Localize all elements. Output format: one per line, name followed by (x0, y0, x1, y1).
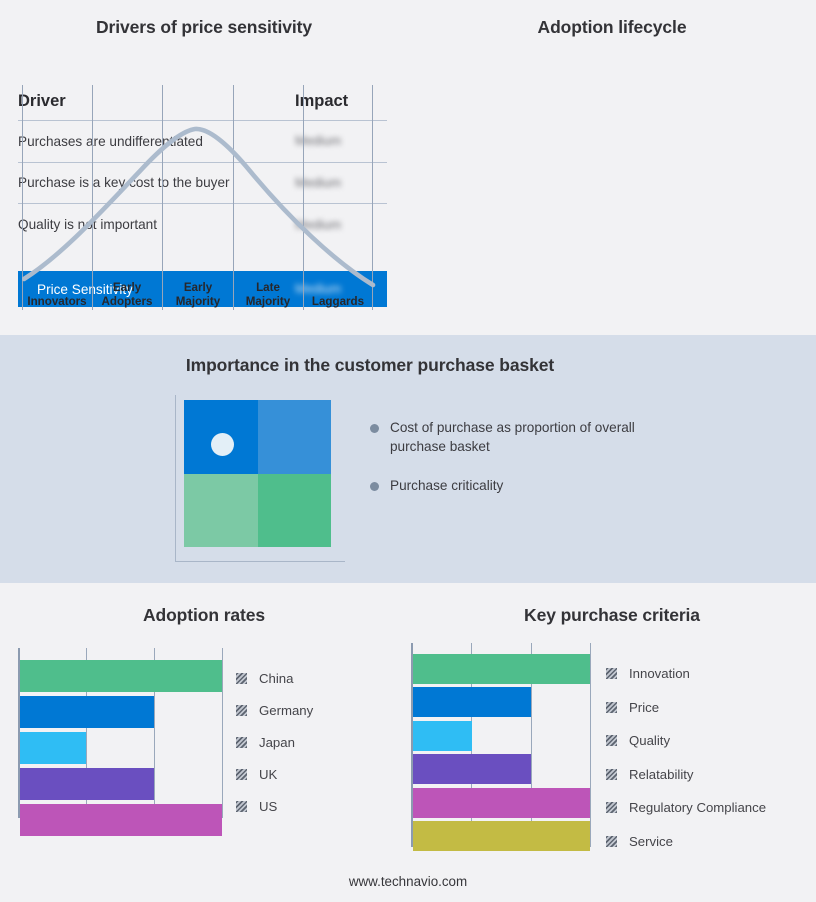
hatched-swatch-icon (606, 702, 617, 713)
bar-uk (20, 768, 154, 800)
hatched-swatch-icon (236, 801, 247, 812)
key-purchase-criteria-legend: Innovation Price Quality Relatability Re… (606, 657, 766, 858)
hatched-swatch-icon (236, 705, 247, 716)
segment-line-1: Early (163, 281, 233, 295)
legend-label: Germany (259, 703, 313, 718)
key-purchase-criteria-chart (411, 643, 596, 847)
segment-line-1: Late (233, 281, 303, 295)
bar-price (413, 687, 531, 717)
legend-label: Price (629, 700, 659, 715)
bar-innovation (413, 654, 590, 684)
legend-item: China (236, 662, 313, 694)
adoption-rates-title: Adoption rates (0, 605, 408, 626)
hatched-swatch-icon (606, 668, 617, 679)
lifecycle-segment-labels: Innovators Early Adopters Early Majority… (22, 268, 398, 310)
matrix-position-marker (211, 433, 234, 456)
gridline (590, 643, 591, 847)
matrix-quadrant-top-right (258, 400, 332, 474)
hatched-swatch-icon (606, 769, 617, 780)
lifecycle-segment-laggards: Laggards (303, 295, 373, 309)
legend-label: Relatability (629, 767, 694, 782)
hatched-swatch-icon (606, 735, 617, 746)
basket-legend: Cost of purchase as proportion of overal… (370, 418, 670, 515)
legend-item: Japan (236, 726, 313, 758)
legend-label: Japan (259, 735, 295, 750)
adoption-rates-legend: China Germany Japan UK US (236, 662, 313, 822)
bullet-icon (370, 424, 379, 433)
key-purchase-criteria-title: Key purchase criteria (408, 605, 816, 626)
bar-us (20, 804, 222, 836)
legend-label: Regulatory Compliance (629, 800, 766, 815)
lifecycle-segment-early-majority: Early Majority (163, 281, 233, 309)
legend-item: US (236, 790, 313, 822)
bar-quality (413, 721, 472, 751)
legend-item: Cost of purchase as proportion of overal… (370, 418, 670, 456)
legend-item: UK (236, 758, 313, 790)
hatched-swatch-icon (606, 802, 617, 813)
purchase-basket-matrix (184, 400, 331, 547)
lifecycle-segment-late-majority: Late Majority (233, 281, 303, 309)
legend-label: Quality (629, 733, 670, 748)
legend-label: Cost of purchase as proportion of overal… (390, 420, 635, 454)
lifecycle-section-title: Adoption lifecycle (408, 17, 816, 38)
bar-china (20, 660, 222, 692)
hatched-swatch-icon (236, 673, 247, 684)
legend-label: Service (629, 834, 673, 849)
hatched-swatch-icon (236, 737, 247, 748)
bar-germany (20, 696, 154, 728)
matrix-quadrant-bottom-right (258, 474, 332, 548)
segment-line-1: Early (92, 281, 162, 295)
lifecycle-segment-early-adopters: Early Adopters (92, 281, 162, 309)
matrix-quadrant-bottom-left (184, 474, 258, 548)
lifecycle-panel (408, 0, 816, 335)
lifecycle-segment-innovators: Innovators (22, 295, 92, 309)
lifecycle-bell-curve (24, 129, 373, 285)
legend-label: China (259, 671, 293, 686)
criteria-plot-area (411, 643, 592, 847)
legend-item: Purchase criticality (370, 476, 670, 495)
adoption-plot-area (18, 648, 224, 818)
footer-url: www.technavio.com (0, 874, 816, 889)
segment-line-2: Majority (163, 295, 233, 309)
segment-line-2: Majority (233, 295, 303, 309)
adoption-rates-chart (18, 648, 228, 818)
drivers-section-title: Drivers of price sensitivity (0, 17, 408, 38)
segment-line-2: Laggards (303, 295, 373, 309)
segment-line-2: Adopters (92, 295, 162, 309)
legend-label: UK (259, 767, 277, 782)
bar-relatability (413, 754, 531, 784)
legend-item: Innovation (606, 657, 766, 691)
bar-japan (20, 732, 86, 764)
bar-service (413, 821, 590, 851)
hatched-swatch-icon (606, 836, 617, 847)
legend-label: Innovation (629, 666, 690, 681)
legend-label: US (259, 799, 277, 814)
bullet-icon (370, 482, 379, 491)
legend-item: Quality (606, 724, 766, 758)
bar-regulatory-compliance (413, 788, 590, 818)
legend-item: Price (606, 691, 766, 725)
legend-item: Regulatory Compliance (606, 791, 766, 825)
gridline (222, 648, 223, 818)
legend-item: Service (606, 825, 766, 859)
basket-section-title: Importance in the customer purchase bask… (0, 355, 740, 376)
legend-label: Purchase criticality (390, 478, 503, 493)
legend-item: Relatability (606, 758, 766, 792)
hatched-swatch-icon (236, 769, 247, 780)
segment-line-2: Innovators (22, 295, 92, 309)
infographic-page: Drivers of price sensitivity Driver Impa… (0, 0, 816, 902)
legend-item: Germany (236, 694, 313, 726)
